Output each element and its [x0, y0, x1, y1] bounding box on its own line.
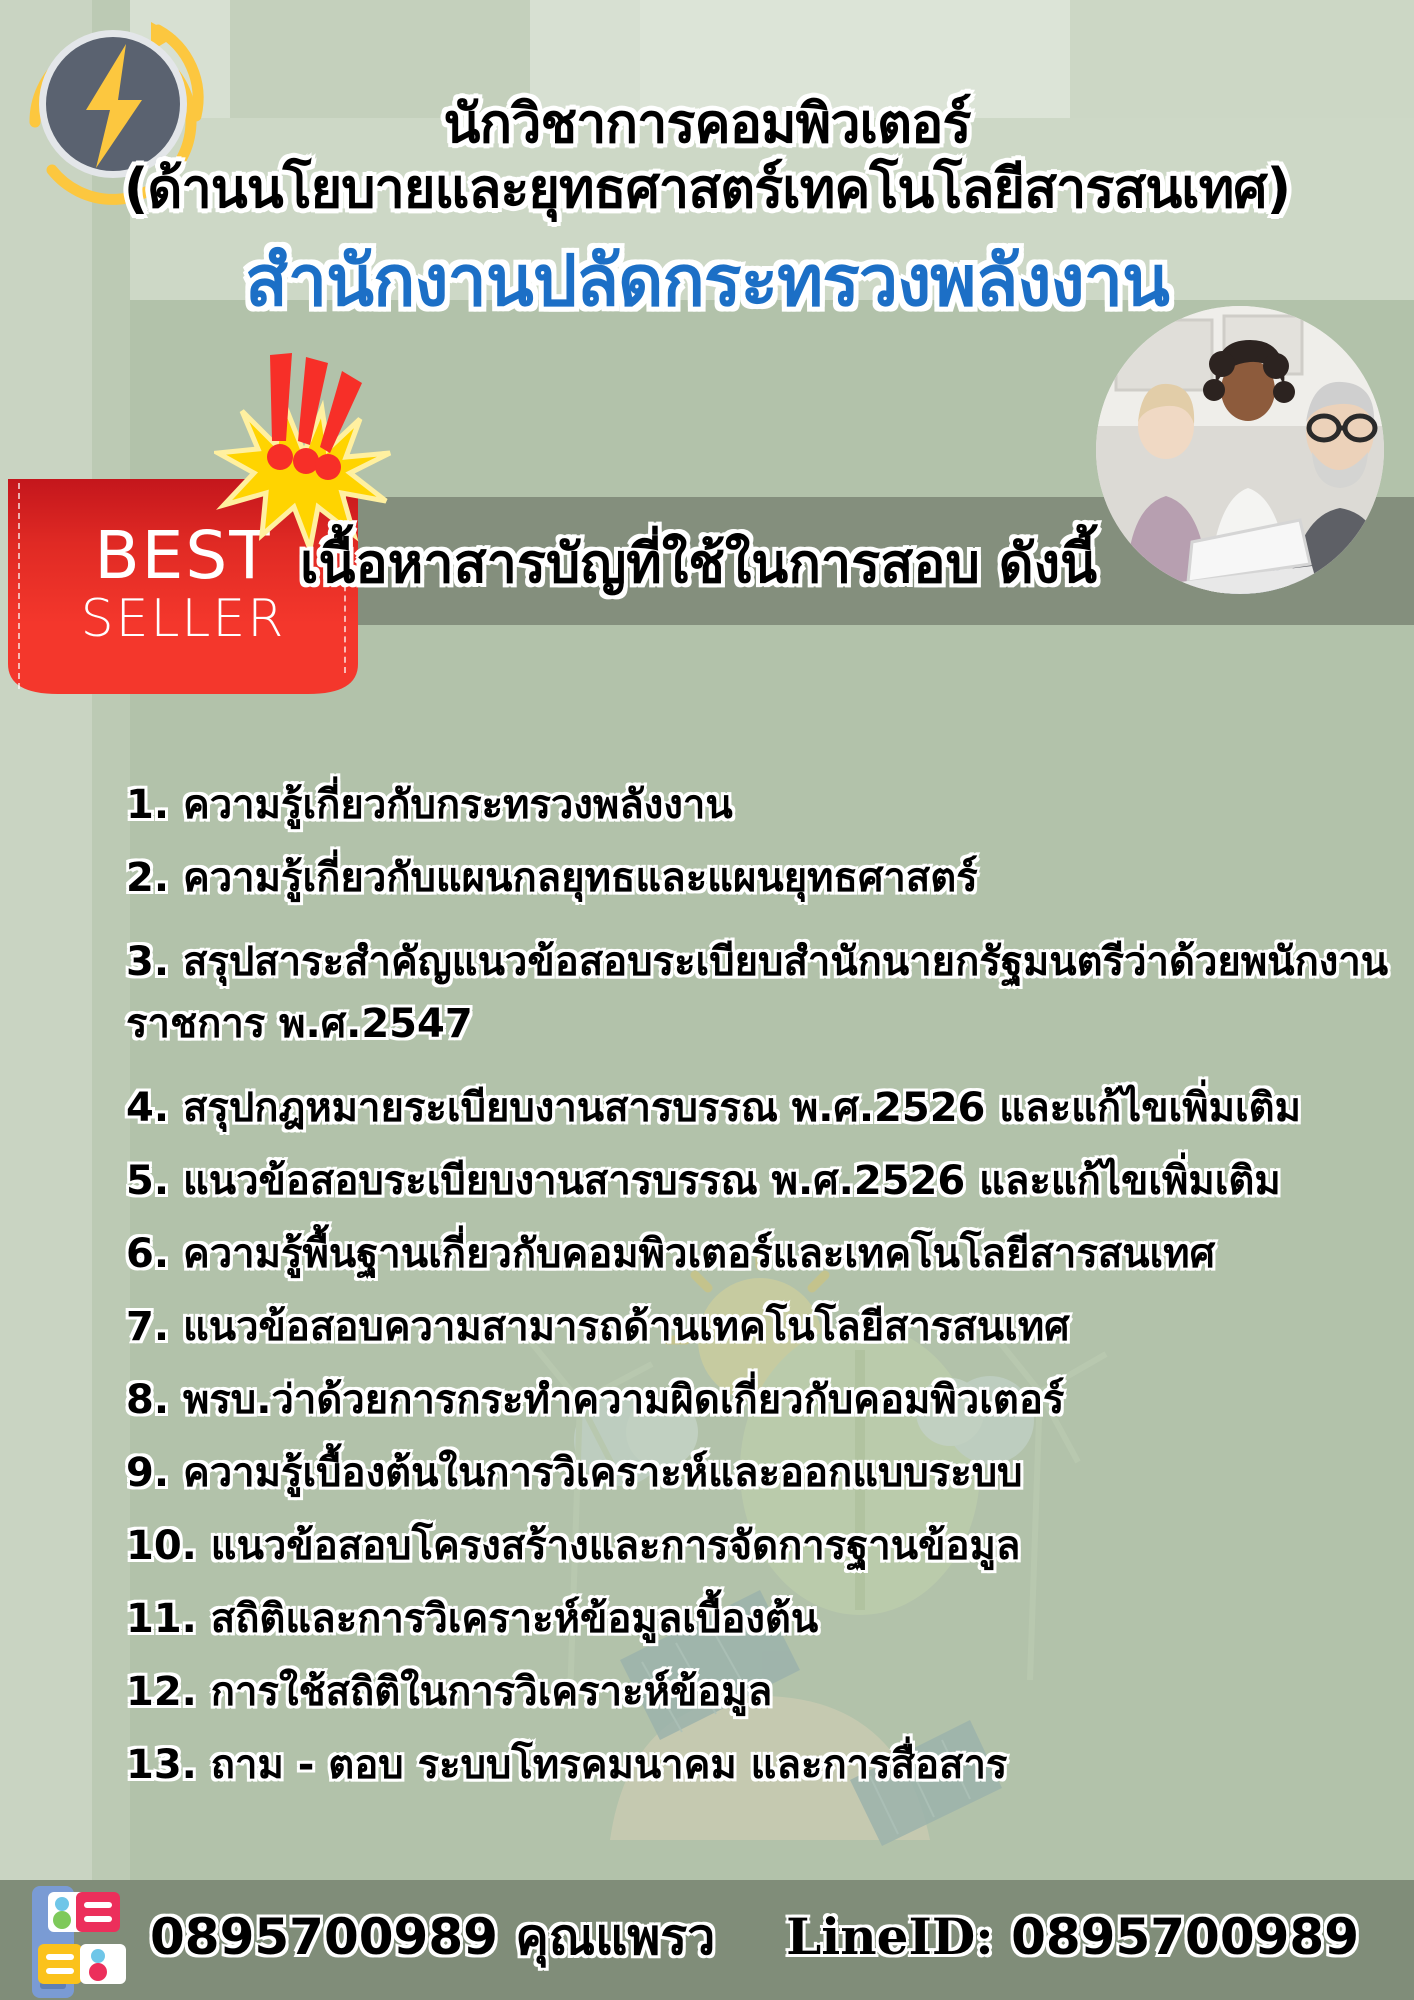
- header-title-block: นักวิชาการคอมพิวเตอร์ (ด้านนโยบายและยุทธ…: [0, 96, 1414, 216]
- contents-list: 1. ความรู้เกี่ยวกับกระทรวงพลังงาน 2. ควา…: [126, 785, 1406, 1818]
- list-item: 1. ความรู้เกี่ยวกับกระทรวงพลังงาน: [126, 785, 1406, 825]
- list-item: 9. ความรู้เบื้องต้นในการวิเคราะห์และออกแ…: [126, 1453, 1406, 1493]
- list-item: 2. ความรู้เกี่ยวกับแผนกลยุทธและแผนยุทธศา…: [126, 858, 1406, 898]
- page-title-line1: นักวิชาการคอมพิวเตอร์: [0, 96, 1414, 151]
- subtitle-text: เนื้อหาสารบัญที่ใช้ในการสอบ ดังนี้: [300, 520, 1097, 606]
- list-item: 12. การใช้สถิติในการวิเคราะห์ข้อมูล: [126, 1672, 1406, 1712]
- footer-contact: 0895700989 คุณแพรว LineID: 0895700989: [150, 1898, 1359, 1977]
- footer-phone: 0895700989: [150, 1908, 498, 1966]
- list-item: 8. พรบ.ว่าด้วยการกระทำความผิดเกี่ยวกับคอ…: [126, 1380, 1406, 1420]
- contact-card-icon: [18, 1886, 138, 1998]
- list-item: 7. แนวข้อสอบความสามารถด้านเทคโนโลยีสารสน…: [126, 1307, 1406, 1347]
- list-item: 5. แนวข้อสอบระเบียบงานสารบรรณ พ.ศ.2526 แ…: [126, 1161, 1406, 1201]
- exclamation-burst-icon: [214, 349, 394, 549]
- list-item: 10. แนวข้อสอบโครงสร้างและการจัดการฐานข้อ…: [126, 1526, 1406, 1566]
- list-item: 13. ถาม - ตอบ ระบบโทรคมนาคม และการสื่อสา…: [126, 1745, 1406, 1785]
- footer-contact-name: คุณแพรว: [515, 1908, 715, 1966]
- list-item: 11. สถิติและการวิเคราะห์ข้อมูลเบื้องต้น: [126, 1599, 1406, 1639]
- page-title-line2: (ด้านนโยบายและยุทธศาสตร์เทคโนโลยีสารสนเท…: [0, 161, 1414, 216]
- list-item: 4. สรุปกฎหมายระเบียบงานสารบรรณ พ.ศ.2526 …: [126, 1088, 1406, 1128]
- poster-root: นักวิชาการคอมพิวเตอร์ (ด้านนโยบายและยุทธ…: [0, 0, 1414, 2000]
- office-team-photo: [1096, 306, 1384, 594]
- footer-line-id: 0895700989: [1011, 1908, 1359, 1966]
- list-item: 6. ความรู้พื้นฐานเกี่ยวกับคอมพิวเตอร์และ…: [126, 1234, 1406, 1274]
- list-item: 3. สรุปสาระสำคัญแนวข้อสอบระเบียบสำนักนาย…: [126, 931, 1406, 1055]
- footer-line-label: LineID:: [786, 1907, 994, 1966]
